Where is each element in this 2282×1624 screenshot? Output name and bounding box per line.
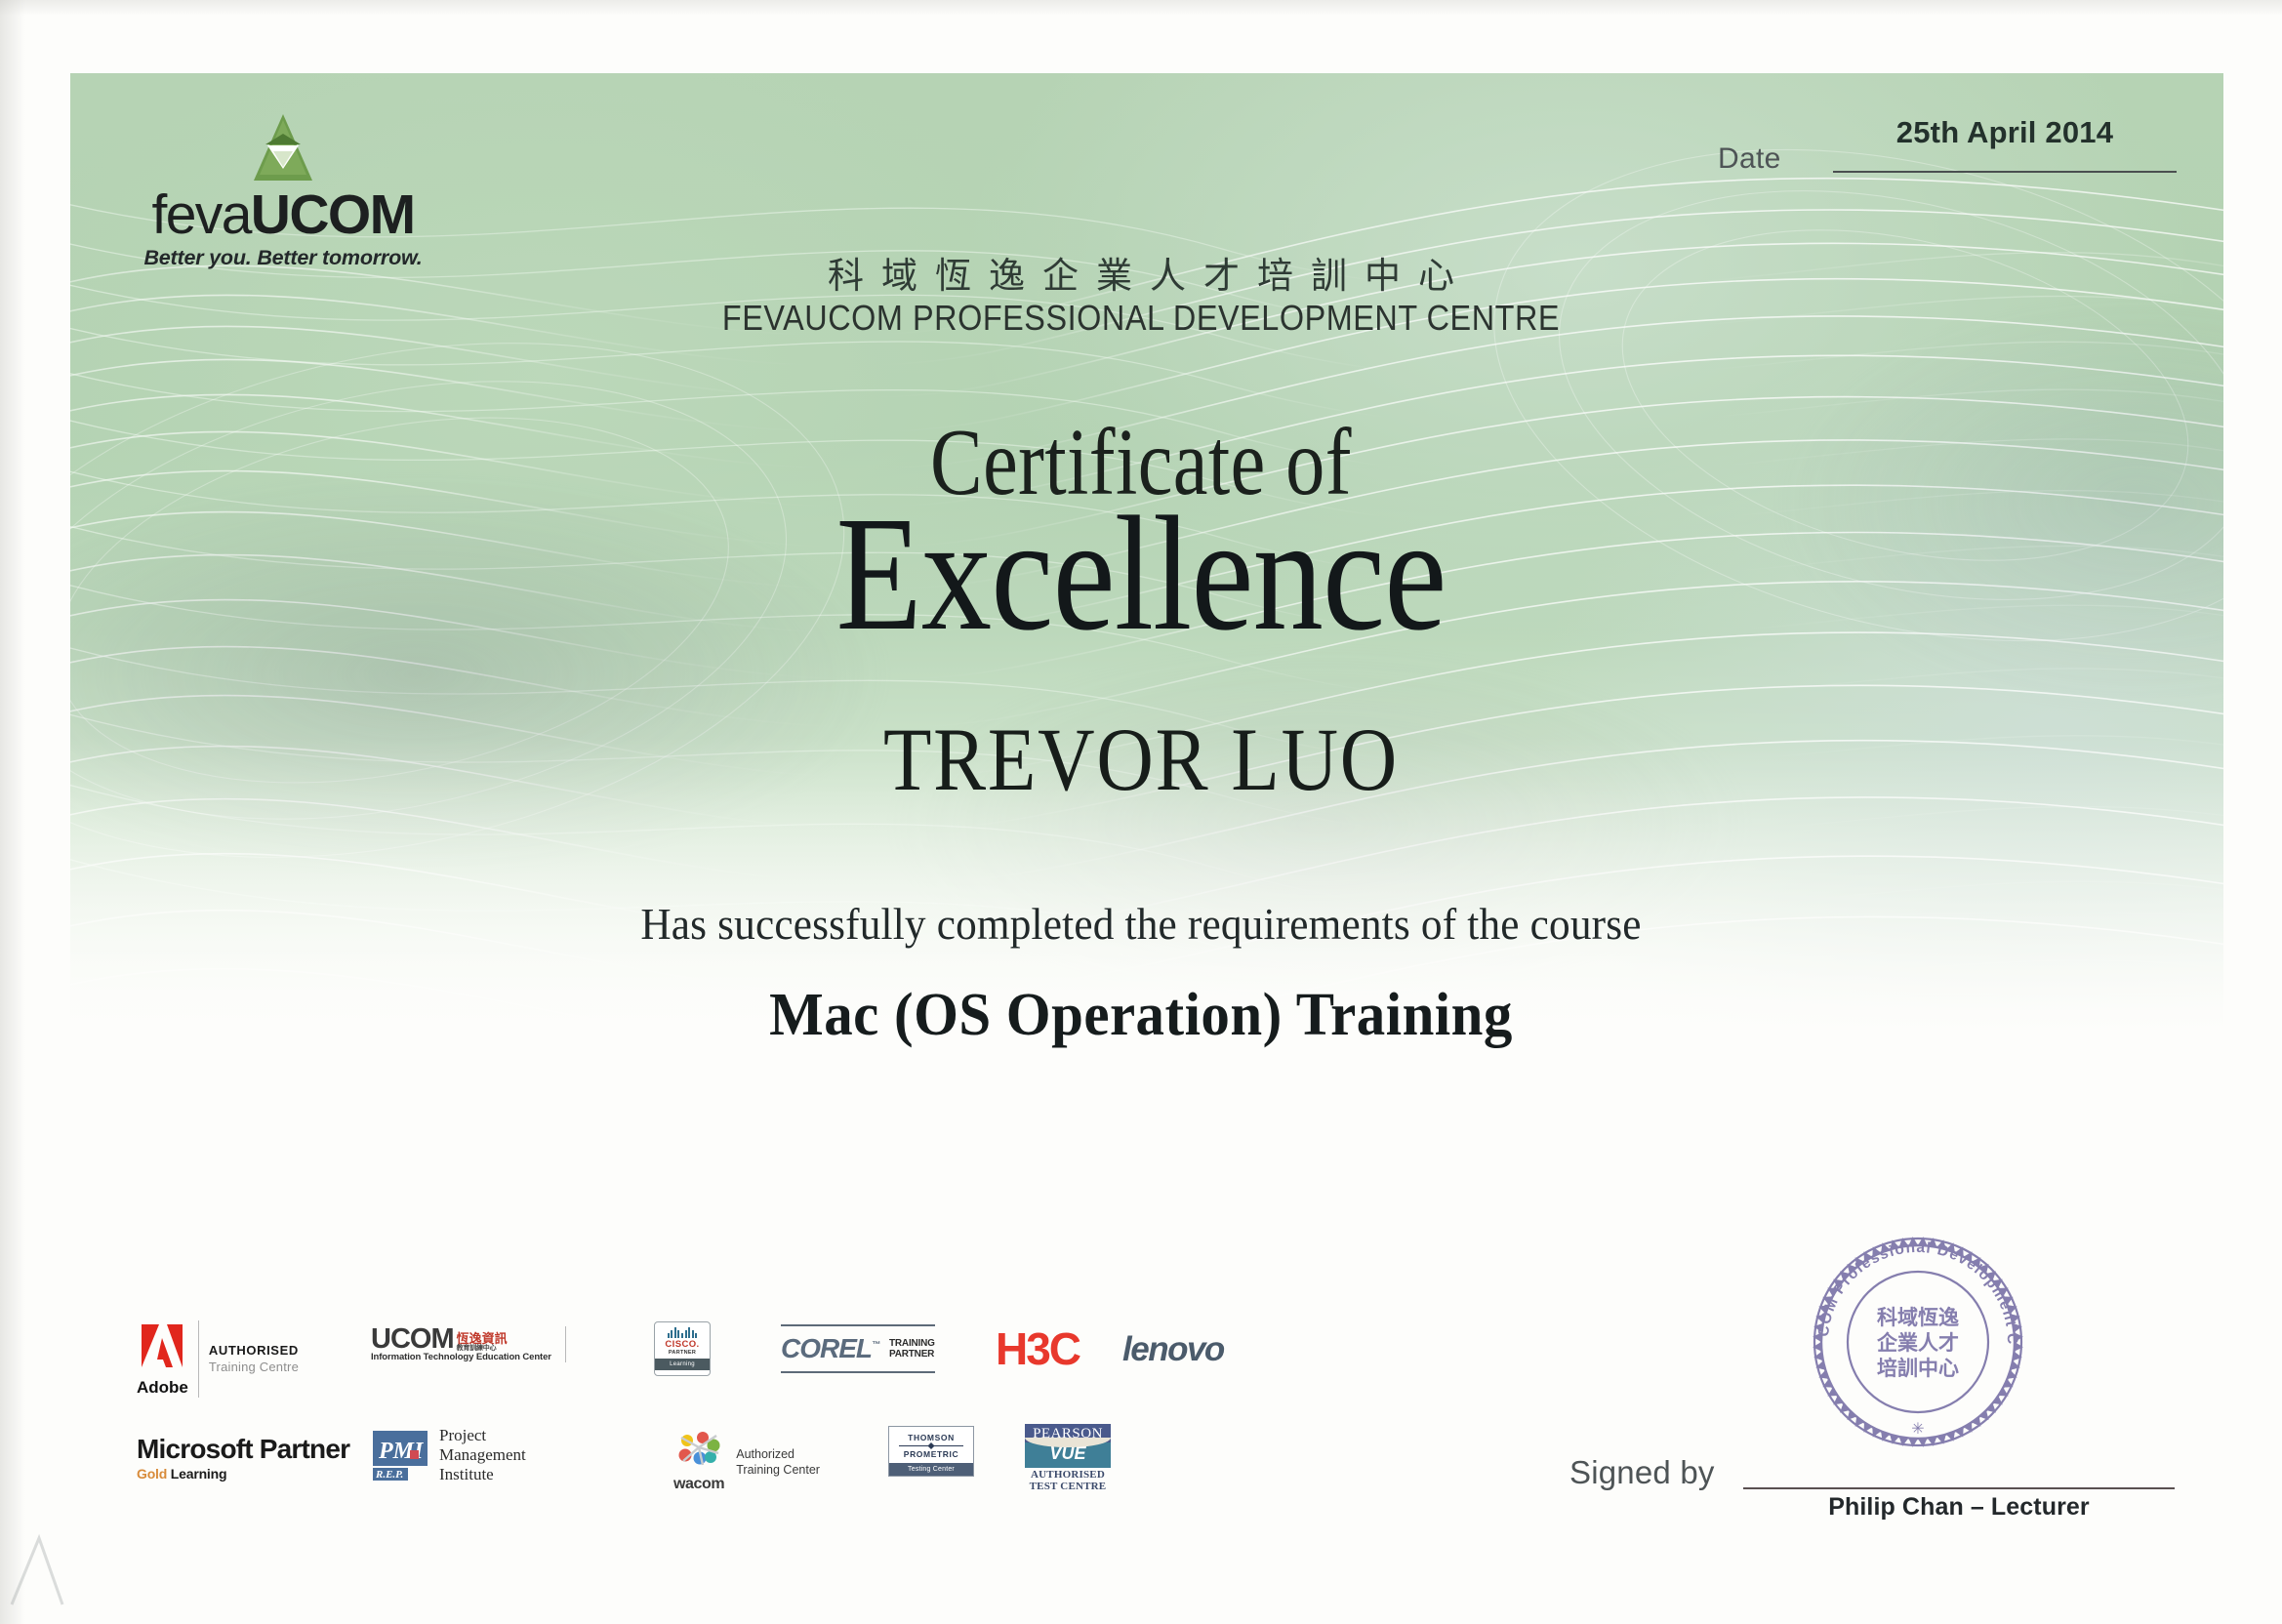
- partner-logo-microsoft: Microsoft Partner Gold Learning: [137, 1434, 349, 1482]
- seal-inner-line1: 科域恆逸: [1877, 1306, 1959, 1329]
- signed-by-label: Signed by: [1569, 1454, 1715, 1491]
- ucom-subtitle: Information Technology Education Center: [371, 1352, 551, 1362]
- seal-inner-line2: 企業人才: [1876, 1331, 1959, 1355]
- centre-name-english: FEVAUCOM PROFESSIONAL DEVELOPMENT CENTRE: [114, 298, 2168, 339]
- corel-tm: ™: [872, 1340, 879, 1350]
- brand-word-bold: UCOM: [251, 183, 415, 246]
- corel-training-label: TRAINING: [889, 1338, 935, 1349]
- prometric-label: PROMETRIC: [893, 1449, 969, 1459]
- date-rule: [1833, 171, 2177, 173]
- partner-logo-prometric: THOMSON PROMETRIC Testing Center: [888, 1426, 974, 1477]
- adobe-training-centre-label: Training Centre: [209, 1360, 299, 1375]
- prometric-testing-center-label: Testing Center: [889, 1463, 973, 1476]
- scan-edge-shadow-left: [0, 0, 25, 1624]
- date-label: Date: [1718, 142, 1781, 176]
- signature-field: Signed by Philip Chan – Lecturer: [1569, 1444, 2175, 1532]
- partner-logo-pmi: PMI R.E.P. Project Management Institute: [371, 1426, 526, 1484]
- date-field: Date 25th April 2014: [1718, 115, 2177, 203]
- svg-text:R.E.P.: R.E.P.: [375, 1469, 403, 1481]
- partner-logo-row-1: Adobe AUTHORISED Training Centre UCOM 恆逸…: [137, 1313, 1132, 1402]
- partner-logo-pearsonvue: PEARSON VUE AUTHORISED TEST CENTRE: [1025, 1424, 1111, 1493]
- microsoft-partner-wordmark: Microsoft Partner: [137, 1434, 349, 1465]
- ucom-wordmark: UCOM: [371, 1326, 454, 1352]
- corel-partner-label: PARTNER: [889, 1349, 935, 1360]
- wacom-training-center-label: Training Center: [736, 1463, 820, 1478]
- seal-star-icon: ✳: [1911, 1421, 1924, 1438]
- signatory-name: Philip Chan – Lecturer: [1743, 1493, 2175, 1522]
- partner-logo-ucom: UCOM 恆逸資訊 教育訓練中心 Information Technology …: [371, 1326, 576, 1362]
- vue-label: VUE: [1025, 1442, 1111, 1468]
- scan-artifact-mark: [6, 1522, 84, 1606]
- cisco-bridge-icon: [668, 1327, 698, 1338]
- triangle-logo-icon: [252, 112, 314, 183]
- partner-logos: Adobe AUTHORISED Training Centre UCOM 恆逸…: [137, 1313, 1132, 1510]
- h3c-wordmark: H3C: [996, 1322, 1080, 1375]
- cisco-wordmark: CISCO.: [665, 1339, 699, 1350]
- course-name: Mac (OS Operation) Training: [57, 981, 2224, 1050]
- centre-name-chinese: 科域恆逸企業人才培訓中心: [0, 246, 2282, 299]
- cisco-learning-label: Learning: [655, 1359, 710, 1370]
- adobe-wordmark: Adobe: [137, 1378, 188, 1398]
- scan-edge-shadow-top: [0, 0, 2282, 16]
- date-value: 25th April 2014: [1833, 115, 2177, 150]
- microsoft-gold-label: Gold: [137, 1466, 167, 1482]
- partner-logo-lenovo: lenovo: [1122, 1330, 1224, 1369]
- pmi-line1: Project: [439, 1426, 526, 1445]
- wacom-authorized-label: Authorized: [736, 1447, 820, 1462]
- pearsonvue-test-centre-label: TEST CENTRE: [1025, 1481, 1111, 1492]
- prometric-divider-icon: [899, 1445, 963, 1446]
- partner-logo-cisco: CISCO. PARTNER Learning: [654, 1321, 711, 1376]
- partner-logo-wacom: wacom Authorized Training Center: [673, 1432, 820, 1493]
- adobe-a-icon: [138, 1320, 186, 1371]
- divider: [565, 1326, 566, 1362]
- wacom-wordmark: wacom: [673, 1476, 724, 1493]
- pmi-line2: Management: [439, 1445, 526, 1465]
- partner-logo-adobe: Adobe AUTHORISED Training Centre: [137, 1320, 299, 1398]
- ucom-chinese-subtitle: 教育訓練中心: [457, 1345, 497, 1352]
- partner-logo-corel: COREL™ TRAINING PARTNER: [781, 1324, 935, 1373]
- pmi-mark-icon: PMI R.E.P.: [371, 1429, 431, 1482]
- partner-logo-h3c: H3C: [996, 1322, 1080, 1375]
- adobe-authorised-label: AUTHORISED: [209, 1343, 299, 1359]
- divider: [198, 1320, 199, 1398]
- official-seal-stamp: FevaUCOM Professional Development Centre…: [1801, 1225, 2035, 1459]
- completion-statement: Has successfully completed the requireme…: [68, 898, 2214, 950]
- brand-wordmark: fevaUCOM: [137, 188, 429, 241]
- cisco-partner-label: PARTNER: [669, 1350, 696, 1356]
- vue-curve-icon: [1025, 1438, 1111, 1447]
- corel-wordmark: COREL™: [781, 1333, 879, 1364]
- certificate-title-line2: Excellence: [160, 480, 2123, 669]
- prometric-thomson-label: THOMSON: [893, 1433, 969, 1442]
- pmi-line3: Institute: [439, 1465, 526, 1484]
- pearsonvue-authorised-label: AUTHORISED: [1025, 1469, 1111, 1481]
- wacom-pinwheel-icon: [673, 1432, 724, 1471]
- certificate-sheet: fevaUCOM Better you. Better tomorrow. Da…: [0, 0, 2282, 1624]
- lenovo-wordmark: lenovo: [1122, 1330, 1224, 1369]
- partner-logo-row-2: Microsoft Partner Gold Learning PMI R.E.…: [137, 1420, 1132, 1510]
- brand-word-light: feva: [151, 183, 250, 246]
- recipient-name: TREVOR LUO: [137, 708, 2144, 811]
- ucom-chinese-name: 恆逸資訊: [457, 1332, 508, 1345]
- microsoft-learning-label: Learning: [171, 1466, 227, 1482]
- seal-inner-line3: 培訓中心: [1877, 1357, 1959, 1380]
- signature-rule: [1743, 1487, 2175, 1489]
